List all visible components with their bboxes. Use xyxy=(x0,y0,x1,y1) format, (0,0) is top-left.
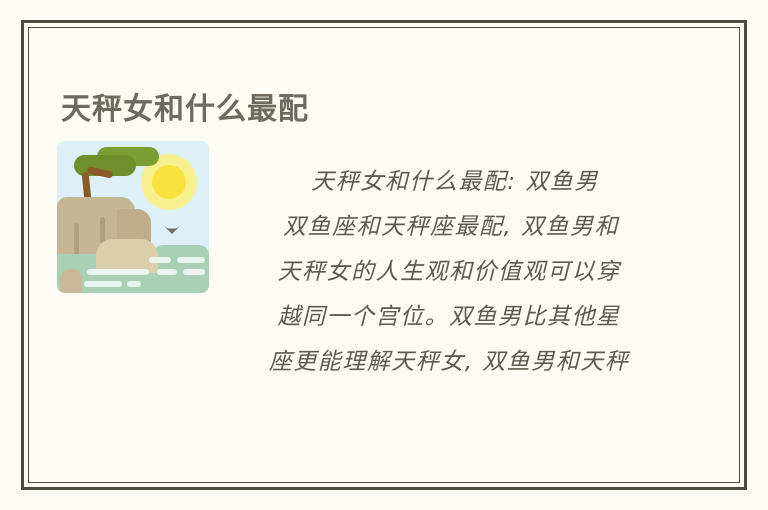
page-title: 天秤女和什么最配 xyxy=(61,90,309,130)
water-ripple xyxy=(84,281,122,287)
water-ripple xyxy=(157,269,177,275)
landscape-illustration xyxy=(57,141,209,293)
body-line-4: 越同一个宫位。双鱼男比其他星 xyxy=(214,295,684,340)
body-line-2: 双鱼座和天秤座最配, 双鱼男和 xyxy=(214,205,684,250)
water-ripple xyxy=(127,281,141,287)
water-ripple xyxy=(183,269,205,275)
water-ripple xyxy=(87,269,149,275)
article-card: 天秤女和什么最配 xyxy=(0,0,768,510)
article-body: 天秤女和什么最配: 双鱼男 双鱼座和天秤座最配, 双鱼男和 天秤女的人生观和价值… xyxy=(214,160,684,385)
card-content: 天秤女和什么最配 xyxy=(29,28,739,482)
cliff-crack-icon xyxy=(100,217,105,243)
small-rock-icon xyxy=(60,269,82,293)
foreground-rock-icon xyxy=(96,239,158,273)
cliff-crack-icon xyxy=(74,223,79,255)
body-line-3: 天秤女的人生观和价值观可以穿 xyxy=(214,250,684,295)
body-line-5: 座更能理解天秤女, 双鱼男和天秤 xyxy=(214,340,684,385)
sun-icon xyxy=(152,165,186,199)
water-ripple xyxy=(149,257,171,263)
body-line-1: 天秤女和什么最配: 双鱼男 xyxy=(214,160,684,205)
bird-icon xyxy=(163,225,181,237)
water-ripple xyxy=(177,257,205,263)
